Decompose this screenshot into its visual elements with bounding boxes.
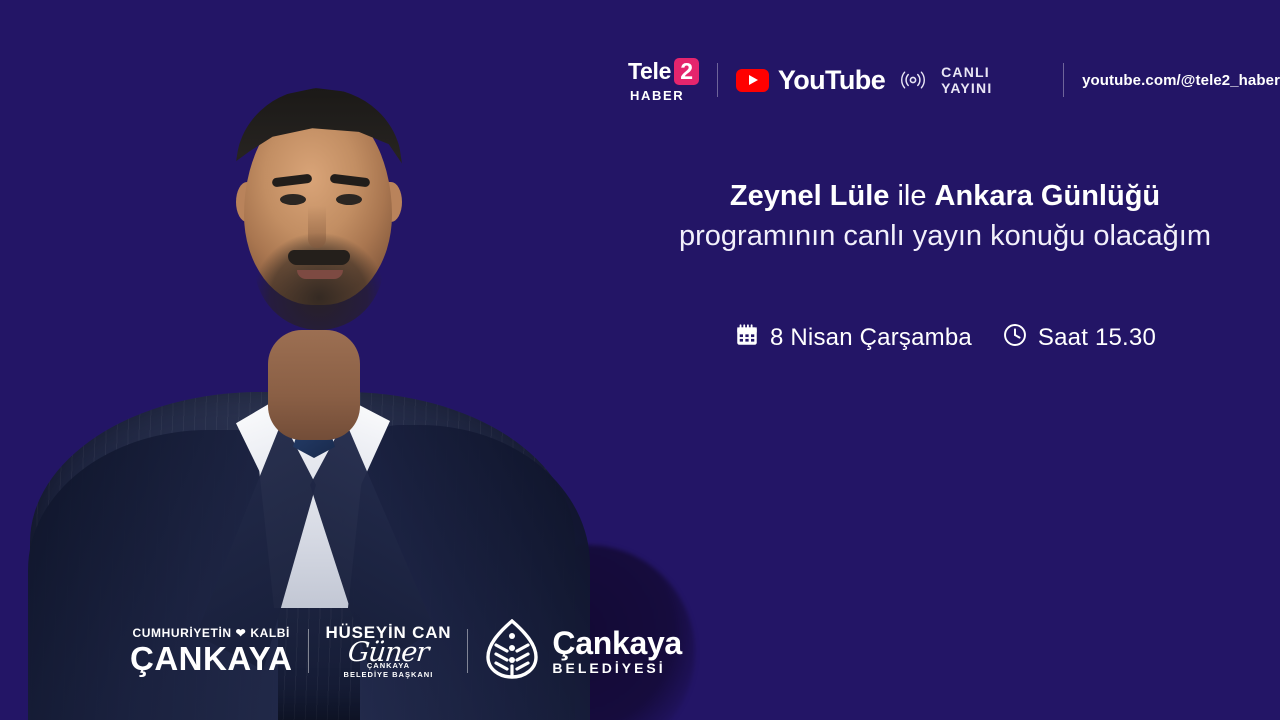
logo-divider-2 <box>467 629 468 673</box>
cankaya-slogan-right: KALBİ <box>250 627 290 639</box>
event-date: 8 Nisan Çarşamba <box>734 322 972 353</box>
heart-icon: ❤ <box>236 627 247 639</box>
broadcast-bar: Tele 2 HABER YouTube CANLI YAYINI <box>628 52 1280 108</box>
headline-line-1: Zeynel Lüle ile Ankara Günlüğü <box>620 178 1270 214</box>
moustache <box>288 250 350 265</box>
cankaya-slogan-left: CUMHURİYETİN <box>132 627 231 639</box>
tele2-wordmark: Tele <box>628 60 671 83</box>
headline-line-2: programının canlı yayın konuğu olacağım <box>620 218 1270 256</box>
bar-divider-2 <box>1063 63 1064 97</box>
event-time: Saat 15.30 <box>1002 322 1156 353</box>
belediyesi-subtitle: BELEDİYESİ <box>552 661 682 675</box>
youtube-channel-url[interactable]: youtube.com/@tele2_haber <box>1082 72 1280 89</box>
nose <box>308 206 326 248</box>
cankaya-wordmark: ÇANKAYA <box>130 642 292 675</box>
guest-name: Zeynel Lüle <box>730 180 890 212</box>
tele2-haber-logo: Tele 2 HABER <box>628 58 699 102</box>
logo-divider-1 <box>308 629 309 673</box>
event-time-text: Saat 15.30 <box>1038 324 1156 352</box>
live-broadcast-label: CANLI YAYINI <box>941 64 1045 96</box>
youtube-wordmark: YouTube <box>778 65 885 96</box>
poster-canvas: Tele 2 HABER YouTube CANLI YAYINI <box>0 0 1280 720</box>
calendar-icon <box>734 322 760 353</box>
cankaya-slogan-logo: CUMHURİYETİN ❤ KALBİ ÇANKAYA <box>130 627 292 675</box>
eye-right <box>336 194 362 205</box>
broadcast-waves-icon <box>898 71 928 89</box>
youtube-live-group: YouTube CANLI YAYINI <box>736 64 1045 96</box>
belediyesi-wordmark: Çankaya <box>552 627 682 659</box>
headline-connector: ile <box>889 180 934 212</box>
headline-block: Zeynel Lüle ile Ankara Günlüğü programın… <box>620 178 1270 256</box>
mayor-signature: Güner <box>347 639 430 666</box>
event-meta-row: 8 Nisan Çarşamba Saat 15.30 <box>620 322 1270 353</box>
mayor-logo: HÜSEYİN CAN Güner ÇANKAYA BELEDİYE BAŞKA… <box>325 624 451 679</box>
mayor-role-line-2: BELEDİYE BAŞKANI <box>344 671 434 679</box>
cankaya-belediyesi-logo: Çankaya BELEDİYESİ <box>484 619 682 684</box>
eye-left <box>280 194 306 205</box>
bar-divider-1 <box>717 63 718 97</box>
youtube-play-icon <box>736 69 769 92</box>
bottom-logo-strip: CUMHURİYETİN ❤ KALBİ ÇANKAYA HÜSEYİN CAN… <box>130 620 682 682</box>
tele2-haber-subtitle: HABER <box>630 89 684 102</box>
event-date-text: 8 Nisan Çarşamba <box>770 324 972 352</box>
program-name: Ankara Günlüğü <box>935 180 1161 212</box>
portrait-photo <box>0 0 600 720</box>
mouth <box>297 270 343 279</box>
tele2-number-badge: 2 <box>674 58 699 85</box>
cankaya-leaf-emblem-icon <box>484 619 540 684</box>
neck <box>268 330 360 440</box>
clock-icon <box>1002 322 1028 353</box>
